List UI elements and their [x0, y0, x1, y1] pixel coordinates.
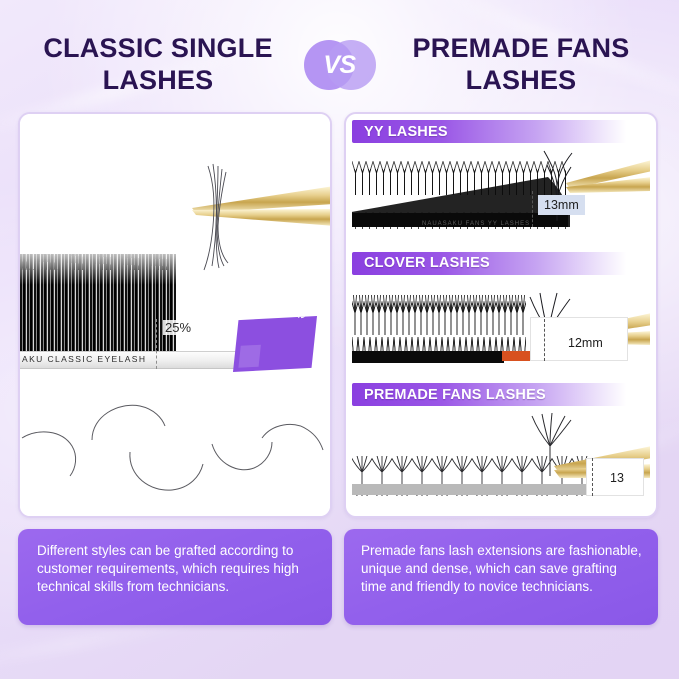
sample-tag-chip	[238, 345, 260, 368]
poster-root: CLASSIC SINGLE LASHES VS PREMADE FANS LA…	[0, 0, 679, 679]
svg-text:NAUASAKU FANS YY LASHES: NAUASAKU FANS YY LASHES	[422, 221, 530, 227]
premade-fans-note: Premade fans lash extensions are fashion…	[344, 529, 658, 625]
comparison-columns: AKU CLASSIC EYELASH 25% mple	[0, 112, 679, 637]
panel-yy-lashes-header: YY LASHES	[352, 120, 650, 143]
left-column: AKU CLASSIC EYELASH 25% mple	[18, 112, 332, 637]
panel-premade-fans-lashes-header: PREMADE FANS LASHES	[352, 383, 650, 406]
sample-tag: mple	[233, 316, 317, 372]
measure-label-13mm: 13mm	[538, 195, 585, 215]
panel-yy-lashes-title: YY LASHES	[364, 124, 448, 140]
lash-strip-icon	[20, 254, 176, 364]
measure-guide-line	[592, 458, 593, 496]
right-column: YY LASHES	[344, 112, 658, 637]
measure-label-13: 13	[604, 468, 630, 488]
premade-fans-panels-card: YY LASHES	[344, 112, 658, 518]
yy-fan-icon: NAUASAKU FANS YY LASHES	[352, 143, 650, 245]
classic-lashes-photo: AKU CLASSIC EYELASH 25% mple	[20, 114, 330, 516]
measure-guide-line	[532, 191, 533, 227]
panel-clover-lashes-body: 12mm	[352, 275, 650, 381]
panel-premade-fans-lashes-body: 13	[352, 406, 650, 512]
panel-clover-lashes-header: CLOVER LASHES	[352, 252, 650, 275]
left-column-title: CLASSIC SINGLE LASHES	[19, 33, 304, 96]
percent-tick	[156, 319, 157, 369]
sample-tag-text: mple	[294, 316, 315, 319]
classic-lashes-photo-card: AKU CLASSIC EYELASH 25% mple	[18, 112, 332, 518]
panel-yy-lashes: YY LASHES	[352, 120, 650, 249]
poster-header: CLASSIC SINGLE LASHES VS PREMADE FANS LA…	[0, 26, 679, 104]
panel-clover-lashes: CLOVER LASHES	[352, 252, 650, 381]
measure-label-12mm: 12mm	[562, 333, 609, 353]
panel-clover-lashes-title: CLOVER LASHES	[364, 255, 490, 271]
percent-label: 25%	[163, 320, 193, 335]
classic-lashes-note: Different styles can be grafted accordin…	[18, 529, 332, 625]
vs-badge: VS	[304, 37, 376, 93]
panel-yy-lashes-body: NAUASAKU FANS YY LASHES	[352, 143, 650, 249]
measure-guide-line	[544, 319, 545, 361]
lash-strip-brand-text: AKU CLASSIC EYELASH	[22, 354, 146, 364]
right-column-title: PREMADE FANS LASHES	[376, 33, 661, 96]
vs-label: VS	[323, 51, 355, 80]
panel-premade-fans-lashes: PREMADE FANS LASHES	[352, 383, 650, 512]
lash-curl-icon	[20, 380, 330, 516]
panel-premade-fans-lashes-title: PREMADE FANS LASHES	[364, 387, 546, 403]
